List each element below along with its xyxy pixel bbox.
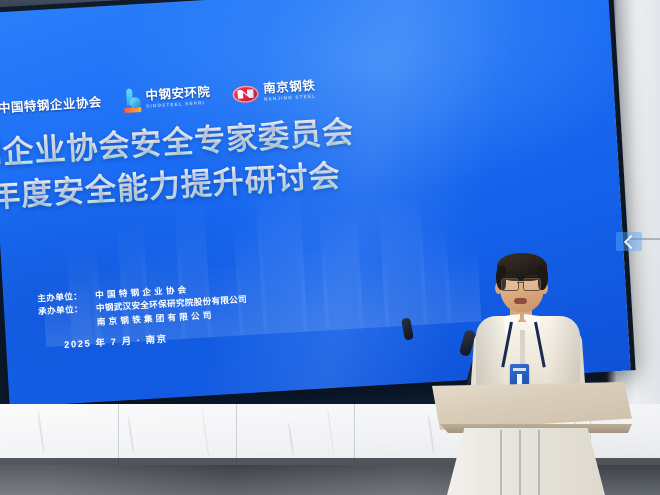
- glasses-icon-left: [501, 278, 519, 291]
- logo-nanjing-steel: 南京钢铁 NANJING STEEL: [232, 80, 316, 104]
- glasses-bridge: [517, 282, 523, 283]
- conference-photo: 中国特钢企业协会 中钢安环院 SINOSTEEL SEPRI 南京钢铁 NANJ…: [0, 0, 660, 495]
- glasses-icon-right: [523, 278, 541, 291]
- blue-tower-icon: [123, 88, 141, 113]
- podium-groove-1: [500, 430, 502, 495]
- podium-groove-2: [519, 430, 521, 495]
- logo-label-en: NANJING STEEL: [264, 95, 317, 103]
- chevron-left-icon[interactable]: [616, 232, 642, 251]
- logo-china-special-steel: 中国特钢企业协会: [0, 96, 102, 115]
- speaker-brow-right: [525, 275, 538, 277]
- speaker-mouth: [514, 298, 527, 304]
- speaker-brow-left: [503, 275, 516, 277]
- red-oval-ng-icon: [232, 85, 259, 104]
- logo-sinosteel-sepri: 中钢安环院 SINOSTEEL SEPRI: [123, 84, 211, 113]
- host-info-block: 主办单位： 中国特钢企业协会 承办单位： 中钢武汉安全环保研究院股份有限公司 南…: [37, 280, 249, 352]
- podium-groove-3: [538, 430, 540, 495]
- podium-base: [447, 428, 605, 495]
- logo-label-cn: 中国特钢企业协会: [0, 96, 102, 115]
